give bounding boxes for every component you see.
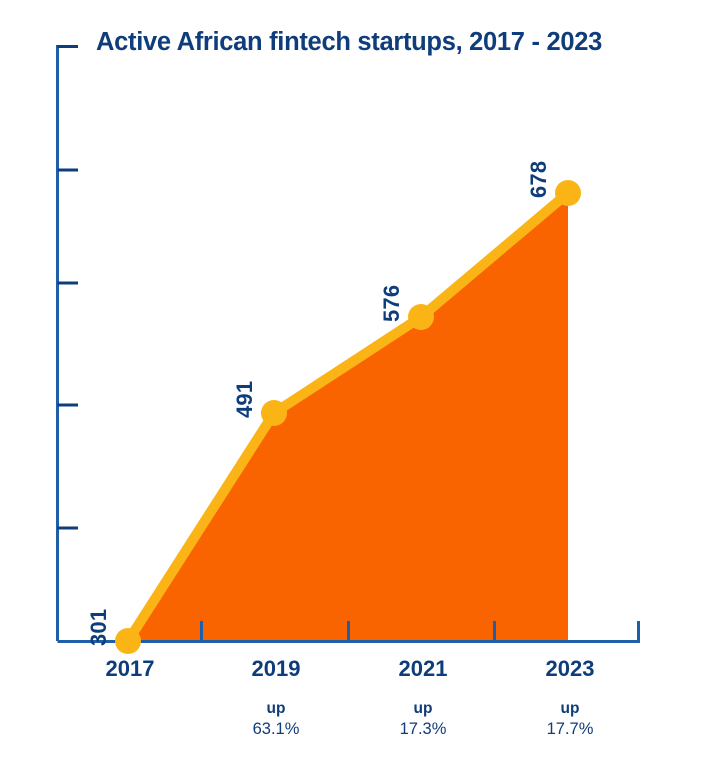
chart-page: Active African fintech startups, 2017 - … bbox=[0, 0, 712, 778]
data-label-2023: 678 bbox=[526, 161, 552, 198]
data-point-marker[interactable] bbox=[261, 400, 287, 426]
data-point-marker[interactable] bbox=[555, 180, 581, 206]
x-tick-label-2021: 2021 bbox=[399, 656, 448, 682]
growth-percent: 17.3% bbox=[400, 719, 447, 740]
data-label-2021: 576 bbox=[379, 285, 405, 322]
growth-word: up bbox=[547, 699, 594, 719]
growth-word: up bbox=[400, 699, 447, 719]
growth-percent: 63.1% bbox=[253, 719, 300, 740]
data-label-2019: 491 bbox=[232, 381, 258, 418]
area-fill-series bbox=[128, 193, 568, 641]
growth-percent: 17.7% bbox=[547, 719, 594, 740]
growth-annotation-2023: up 17.7% bbox=[547, 699, 594, 740]
growth-annotation-2019: up 63.1% bbox=[253, 699, 300, 740]
data-label-2017: 301 bbox=[86, 609, 112, 646]
x-tick-label-2019: 2019 bbox=[252, 656, 301, 682]
x-tick-label-2023: 2023 bbox=[546, 656, 595, 682]
data-point-marker[interactable] bbox=[408, 304, 434, 330]
growth-word: up bbox=[253, 699, 300, 719]
x-tick-label-2017: 2017 bbox=[106, 656, 155, 682]
data-point-marker[interactable] bbox=[115, 628, 141, 654]
growth-annotation-2021: up 17.3% bbox=[400, 699, 447, 740]
